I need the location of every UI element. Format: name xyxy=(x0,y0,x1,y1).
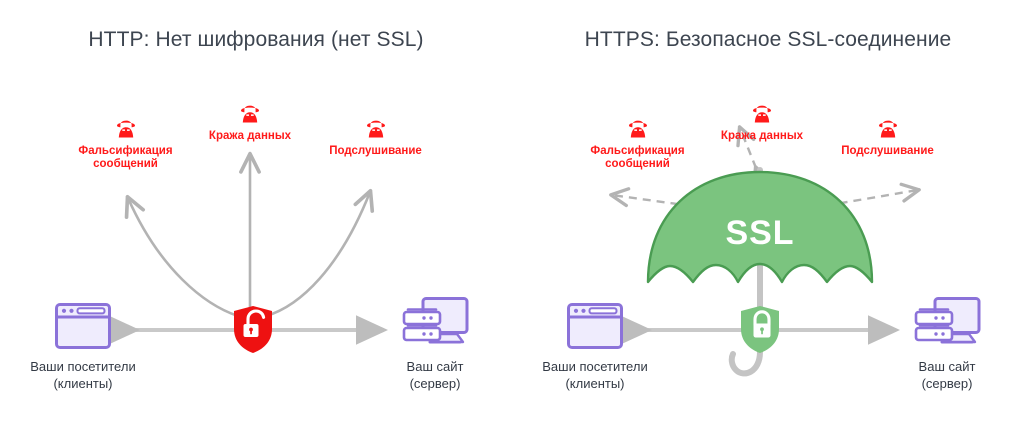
browser-window-icon xyxy=(566,302,624,350)
threat-item-spoofing: Фальсификация сообщений xyxy=(575,116,700,171)
endpoint-label: Ваш сайт (сервер) xyxy=(872,358,1022,392)
hacker-icon xyxy=(875,116,901,142)
endpoint-label: Ваши посетители (клиенты) xyxy=(8,358,158,392)
threat-label: Подслушивание xyxy=(824,145,951,158)
server-computer-icon xyxy=(912,296,982,350)
threat-item-data-theft: Кража данных xyxy=(190,101,310,143)
hacker-icon xyxy=(363,116,389,142)
threat-label: Кража данных xyxy=(190,130,310,143)
locked-shield-icon xyxy=(741,306,779,353)
endpoint-clients: Ваши посетители (клиенты) xyxy=(8,302,158,392)
endpoint-clients: Ваши посетители (клиенты) xyxy=(520,302,670,392)
hacker-icon xyxy=(113,116,139,142)
server-computer-icon xyxy=(400,296,470,350)
endpoint-label: Ваши посетители (клиенты) xyxy=(520,358,670,392)
hacker-icon xyxy=(749,101,775,127)
threat-label: Кража данных xyxy=(702,130,822,143)
hacker-icon xyxy=(237,101,263,127)
threat-label: Фальсификация сообщений xyxy=(63,145,188,171)
http-panel: HTTP: Нет шифрования (нет SSL) xyxy=(0,0,512,424)
unlocked-shield-icon xyxy=(234,306,272,353)
https-panel: HTTPS: Безопасное SSL-соединение SSL xyxy=(512,0,1024,424)
hacker-icon xyxy=(625,116,651,142)
threat-label: Фальсификация сообщений xyxy=(575,145,700,171)
threat-item-spoofing: Фальсификация сообщений xyxy=(63,116,188,171)
threat-label: Подслушивание xyxy=(312,145,439,158)
umbrella-ssl-label: SSL xyxy=(725,214,794,252)
diagram-canvas: HTTP: Нет шифрования (нет SSL) xyxy=(0,0,1024,424)
threat-arrow-right xyxy=(266,192,370,316)
threat-arrow-left xyxy=(128,198,238,316)
endpoint-label: Ваш сайт (сервер) xyxy=(360,358,510,392)
browser-window-icon xyxy=(54,302,112,350)
threat-item-eavesdropping: Подслушивание xyxy=(312,116,439,158)
threat-item-data-theft: Кража данных xyxy=(702,101,822,143)
threat-item-eavesdropping: Подслушивание xyxy=(824,116,951,158)
endpoint-server: Ваш сайт (сервер) xyxy=(360,296,510,392)
endpoint-server: Ваш сайт (сервер) xyxy=(872,296,1022,392)
